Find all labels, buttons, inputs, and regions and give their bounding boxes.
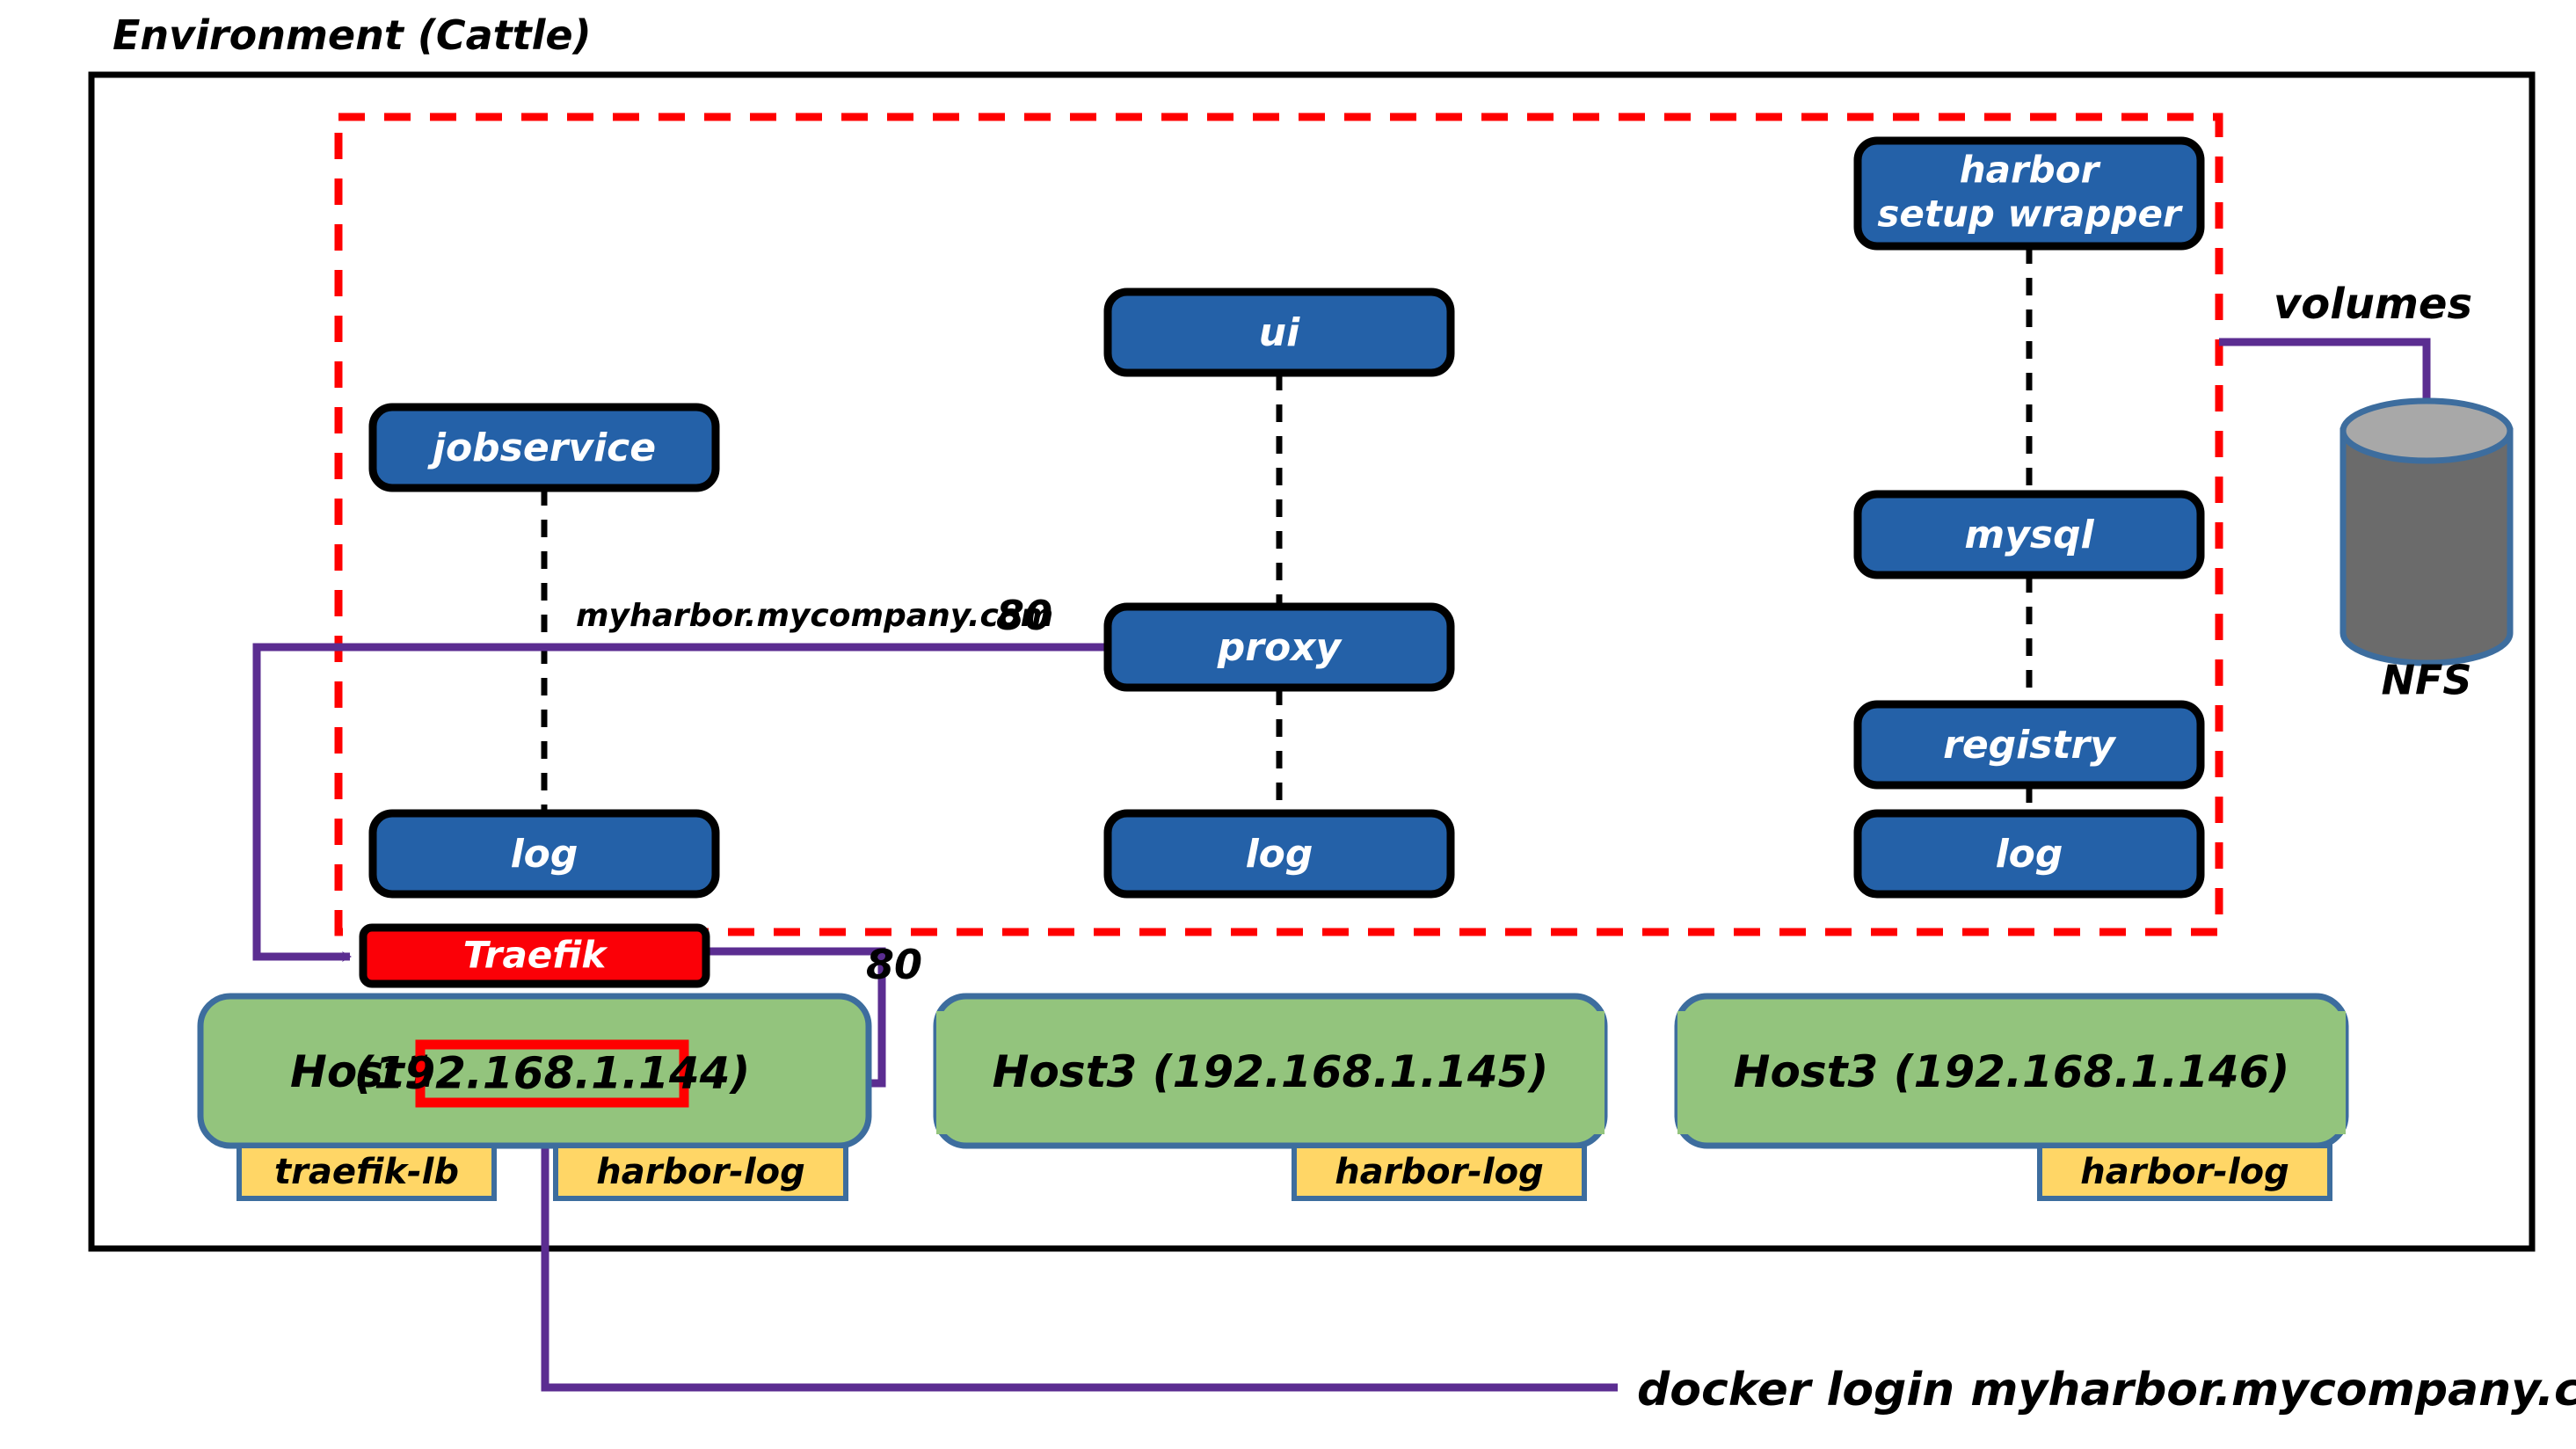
host3-full-label: Host3 (192.168.1.146): [1734, 1046, 2290, 1097]
host2-full-label: Host3 (192.168.1.145): [993, 1046, 1549, 1097]
architecture-diagram: Environment (Cattle) jobservice log ui p…: [0, 0, 2576, 1449]
host2-ip-group: Host3 (192.168.1.145): [936, 1011, 1605, 1134]
host3-ip: (192.168.1.146): [1894, 1046, 2290, 1097]
host-ip-overlay-layer: Host3 (192.168.1.145) Host3 (192.168.1.1…: [0, 0, 2576, 1449]
host3-ip-group: Host3 (192.168.1.146): [1677, 1011, 2346, 1134]
host3-name: Host3: [1734, 1046, 1879, 1097]
host2-ip: (192.168.1.145): [1153, 1046, 1549, 1097]
host2-name: Host3: [993, 1046, 1138, 1097]
